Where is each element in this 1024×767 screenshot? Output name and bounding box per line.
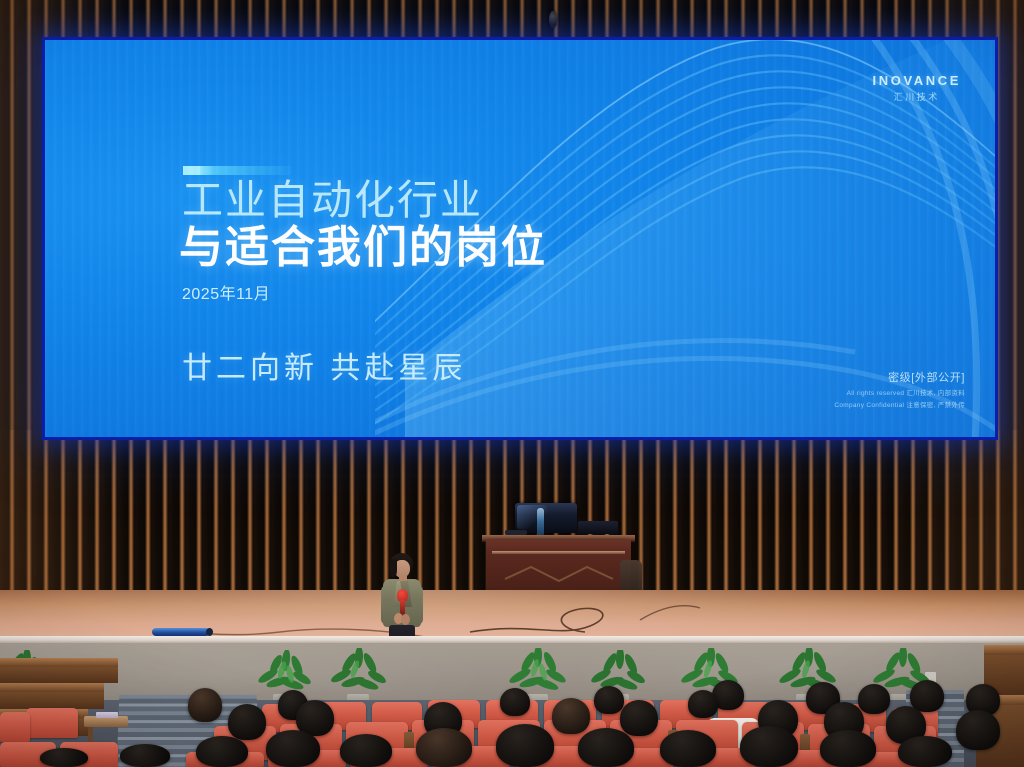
audience-head	[578, 728, 634, 767]
audience-head	[416, 728, 472, 767]
presenter-neck	[399, 575, 407, 581]
ceiling-camera-icon	[549, 11, 557, 28]
seat[interactable]	[26, 708, 78, 738]
audience-head	[196, 736, 248, 767]
audience-head	[740, 726, 798, 767]
auditorium-scene: INOVANCE 汇川技术 工业自动化行业 与适合我们的岗位 2025年11月 …	[0, 0, 1024, 767]
accent-bar-cap	[183, 166, 200, 175]
led-screen: INOVANCE 汇川技术 工业自动化行业 与适合我们的岗位 2025年11月 …	[42, 37, 998, 440]
slide-date: 2025年11月	[182, 280, 270, 304]
blue-rolled-mat	[152, 628, 210, 636]
audience-head	[188, 688, 222, 722]
brand-name: INOVANCE	[873, 73, 961, 88]
paper-on-table	[96, 712, 118, 718]
seat[interactable]	[0, 712, 30, 742]
podium-laptop	[578, 521, 618, 534]
blue-rolled-mat-cap	[206, 628, 213, 636]
audience-head	[552, 698, 590, 734]
audience-head	[496, 724, 554, 767]
audience-head	[660, 730, 716, 767]
stair-riser	[0, 667, 118, 683]
confidentiality-level: 密级[外部公开]	[834, 369, 965, 385]
audience-head	[858, 684, 890, 714]
inovance-logo-icon: INOVANCE 汇川技术	[873, 73, 961, 103]
stair-step	[0, 658, 118, 667]
stair-step	[0, 683, 104, 692]
confidentiality-line-1: All rights reserved 汇川技术, 内部资料	[834, 387, 965, 397]
presenter-hair-side	[389, 559, 397, 577]
audience-head	[956, 710, 1000, 750]
audience-head	[500, 688, 530, 716]
audience-head	[40, 748, 88, 767]
brand-subtitle: 汇川技术	[873, 90, 961, 103]
slide-title-line-2: 与适合我们的岗位	[179, 226, 547, 270]
audience-head	[620, 700, 658, 736]
stage-lip	[0, 636, 1024, 643]
accent-bar-icon	[183, 166, 291, 175]
audience-head	[120, 744, 170, 767]
audience-head	[898, 736, 952, 767]
audience-head	[820, 730, 876, 767]
confidentiality-line-2: Company Confidential 注意保密, 严禁外传	[834, 399, 965, 409]
slide-tagline: 廿二向新 共赴星辰	[182, 343, 466, 387]
audience-head	[228, 704, 266, 740]
audience-head	[266, 730, 320, 767]
confidentiality-notice: 密级[外部公开] All rights reserved 汇川技术, 内部资料 …	[834, 369, 965, 409]
presentation-slide: INOVANCE 汇川技术 工业自动化行业 与适合我们的岗位 2025年11月 …	[45, 40, 995, 437]
audience-head	[688, 690, 718, 718]
audience-head	[594, 686, 624, 714]
water-bottle	[537, 508, 544, 535]
audience-head	[340, 734, 392, 767]
presenter-hand-right	[401, 614, 410, 625]
stair-step	[984, 645, 1024, 655]
slide-title-line-1: 工业自动化行业	[182, 180, 483, 221]
potted-plant	[330, 648, 386, 708]
podium-trim-upper	[492, 551, 625, 554]
stair-riser	[0, 692, 104, 709]
